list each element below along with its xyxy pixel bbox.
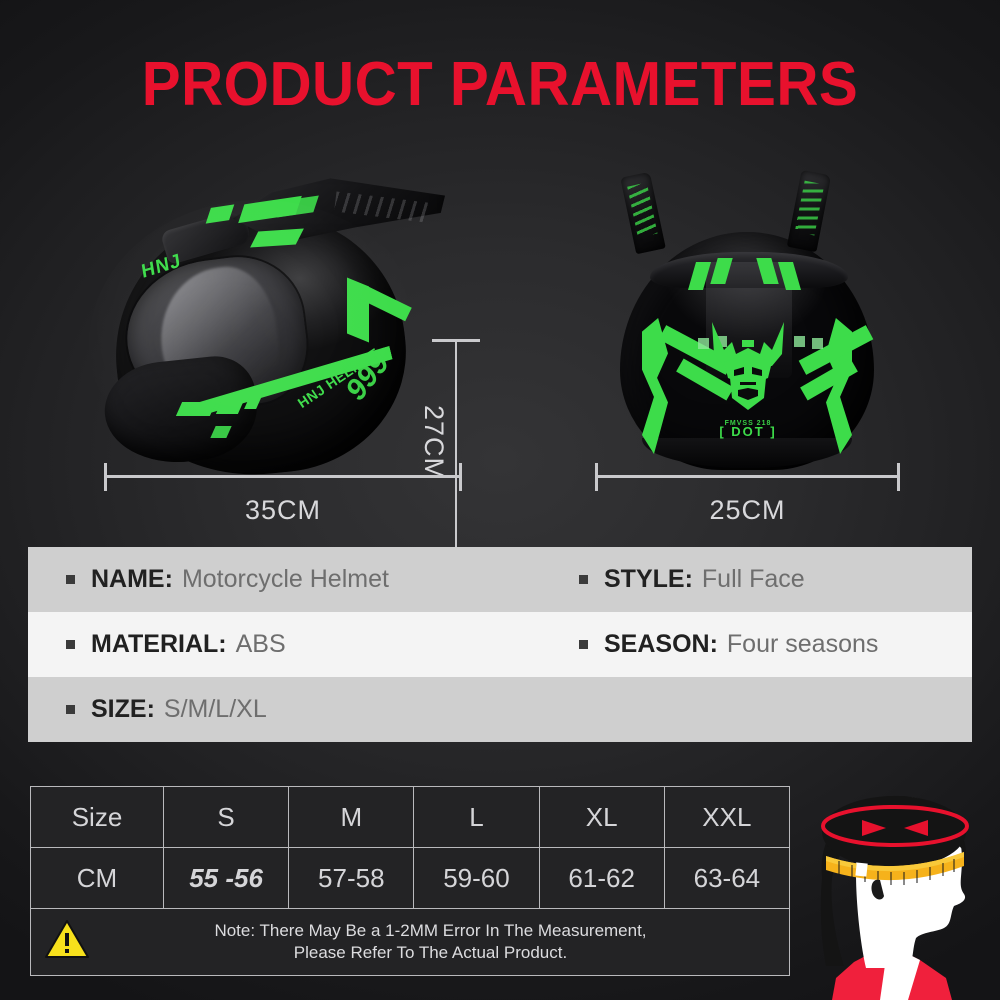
spec-item-size: SIZE: S/M/L/XL	[28, 695, 573, 724]
dimension-line-horizontal	[595, 475, 900, 478]
dimension-cap-left	[104, 463, 107, 491]
product-parameters-infographic: PRODUCT PARAMETERS HNJ HNJ HELMET 999	[0, 0, 1000, 1000]
spec-value: S/M/L/XL	[164, 695, 267, 724]
spec-label: STYLE:	[604, 565, 693, 594]
size-header-cell: S	[164, 787, 289, 848]
head-measurement-illustration	[796, 782, 1000, 1000]
size-value-cell: 59-60	[414, 848, 539, 909]
bullet-icon	[66, 640, 75, 649]
spec-row: MATERIAL: ABS SEASON: Four seasons	[28, 612, 972, 677]
warning-triangle-icon	[45, 919, 89, 965]
spec-panel: NAME: Motorcycle Helmet STYLE: Full Face…	[28, 547, 972, 742]
helmet-base-trim	[642, 438, 852, 468]
certification-mark: FMVSS 218 [ DOT ]	[598, 420, 898, 439]
helmet-horn-left	[620, 172, 666, 255]
spec-item-material: MATERIAL: ABS	[28, 630, 573, 659]
size-value-cell: 55 -56	[164, 848, 289, 909]
size-header-cell: Size	[31, 787, 164, 848]
helmet-horn-right	[787, 170, 831, 252]
size-header-cell: M	[289, 787, 414, 848]
dimension-line-horizontal	[104, 475, 462, 478]
size-value-cell: 63-64	[664, 848, 789, 909]
size-value-cell: 61-62	[539, 848, 664, 909]
dimension-cap-right	[897, 463, 900, 491]
table-row-note: Note: There May Be a 1-2MM Error In The …	[31, 909, 790, 976]
spec-label: MATERIAL:	[91, 630, 227, 659]
table-row-cm: CM 55 -56 57-58 59-60 61-62 63-64	[31, 848, 790, 909]
dimension-height-label: 27CM	[418, 405, 449, 481]
spec-label: SEASON:	[604, 630, 718, 659]
spec-item-season: SEASON: Four seasons	[573, 630, 878, 659]
green-stripe	[176, 402, 216, 416]
dimension-width-label-side: 35CM	[0, 495, 566, 526]
spec-label: NAME:	[91, 565, 173, 594]
spec-value: ABS	[236, 630, 286, 659]
bullet-icon	[66, 705, 75, 714]
size-header-cell: XL	[539, 787, 664, 848]
note-line-1: Note: There May Be a 1-2MM Error In The …	[214, 921, 646, 940]
dimension-cap-left	[595, 463, 598, 491]
size-value-cell: 57-58	[289, 848, 414, 909]
certification-standard: FMVSS 218	[598, 420, 898, 427]
product-image-stage: HNJ HNJ HELMET 999 27CM 35CM	[0, 150, 1000, 540]
spec-row: SIZE: S/M/L/XL	[28, 677, 972, 742]
note-line-2: Please Refer To The Actual Product.	[294, 943, 567, 962]
dimension-width-label-rear: 25CM	[595, 495, 900, 526]
spec-row: NAME: Motorcycle Helmet STYLE: Full Face	[28, 547, 972, 612]
size-header-cell: L	[414, 787, 539, 848]
bullet-icon	[579, 575, 588, 584]
samurai-demon-mask-icon	[702, 320, 794, 416]
spec-item-name: NAME: Motorcycle Helmet	[28, 565, 573, 594]
table-row-header: Size S M L XL XXL	[31, 787, 790, 848]
spec-label: SIZE:	[91, 695, 155, 724]
size-header-cell: XXL	[664, 787, 789, 848]
helmet-rear-view: FMVSS 218 [ DOT ]	[598, 166, 908, 486]
dimension-cap-top	[432, 339, 480, 342]
spec-value: Four seasons	[727, 630, 878, 659]
dimension-cap-right	[459, 463, 462, 491]
note-text: Note: There May Be a 1-2MM Error In The …	[103, 920, 788, 964]
size-chart-table: Size S M L XL XXL CM 55 -56 57-58 59-60 …	[30, 786, 790, 976]
note-cell: Note: There May Be a 1-2MM Error In The …	[31, 909, 790, 976]
green-square	[794, 336, 805, 347]
bullet-icon	[66, 575, 75, 584]
green-square	[812, 338, 823, 349]
spec-value: Motorcycle Helmet	[182, 565, 389, 594]
size-value-cell: CM	[31, 848, 164, 909]
helmet-side-view: HNJ HNJ HELMET 999	[105, 164, 445, 484]
page-title: PRODUCT PARAMETERS	[30, 52, 970, 118]
spec-item-style: STYLE: Full Face	[573, 565, 805, 594]
bullet-icon	[579, 640, 588, 649]
spec-value: Full Face	[702, 565, 805, 594]
